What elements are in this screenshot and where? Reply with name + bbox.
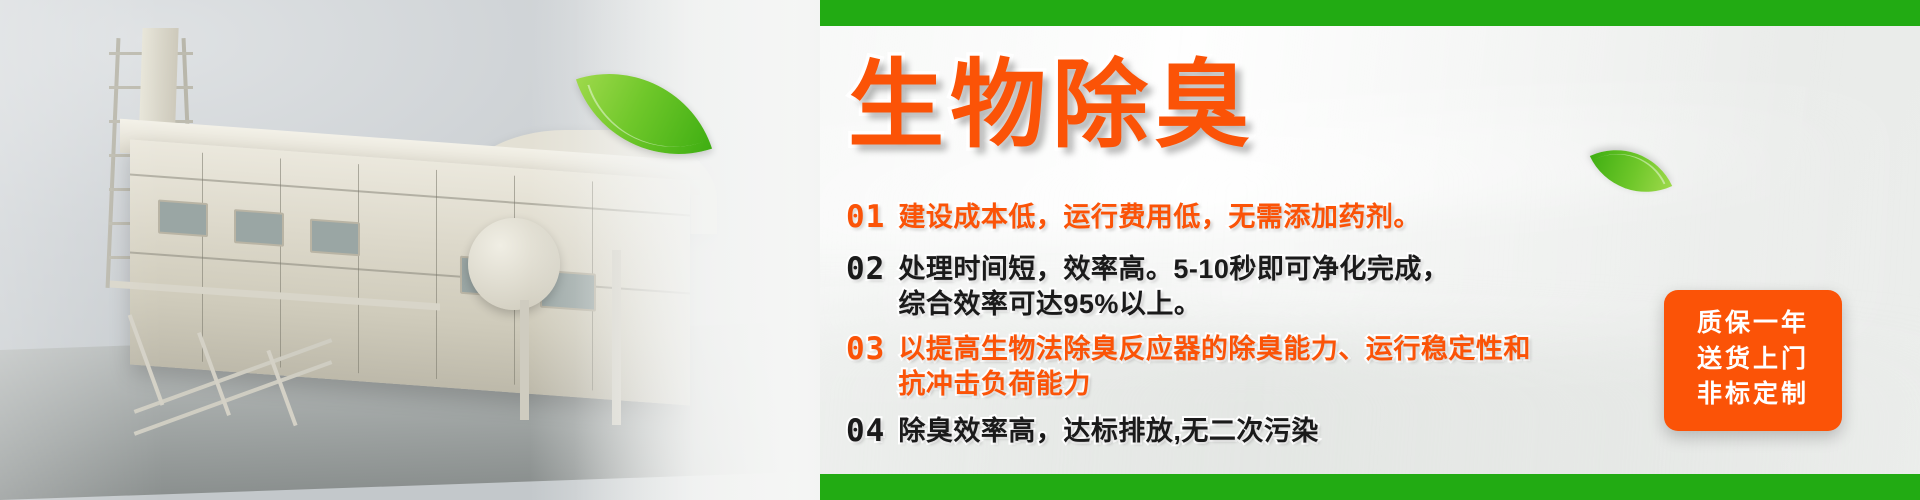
plant-photo: [0, 0, 820, 500]
feature-text: 以提高生物法除臭反应器的除臭能力、运行稳定性和 抗冲击负荷能力: [898, 332, 1531, 402]
feature-list: 01 建设成本低，运行费用低，无需添加药剂。 02 处理时间短，效率高。5-10…: [846, 200, 1636, 464]
feature-item-03: 03 以提高生物法除臭反应器的除臭能力、运行稳定性和 抗冲击负荷能力: [846, 332, 1636, 402]
photo-vignette: [0, 0, 820, 500]
banner-title: 生物除臭: [848, 58, 1256, 154]
feature-text: 处理时间短，效率高。5-10秒即可净化完成， 综合效率可达95%以上。: [898, 252, 1449, 322]
badge-line-custom: 非标定制: [1678, 377, 1828, 413]
text-column: 生物除臭 01 建设成本低，运行费用低，无需添加药剂。 02 处理时间短，效率高…: [840, 0, 1640, 500]
badge-line-delivery: 送货上门: [1678, 342, 1828, 378]
feature-number: 03: [846, 332, 885, 368]
feature-text: 除臭效率高，达标排放,无二次污染: [898, 414, 1319, 449]
feature-number: 04: [846, 414, 885, 450]
feature-number: 01: [846, 200, 885, 236]
feature-item-01: 01 建设成本低，运行费用低，无需添加药剂。: [846, 200, 1636, 236]
guarantee-badge: 质保一年 送货上门 非标定制: [1664, 290, 1842, 431]
feature-item-04: 04 除臭效率高，达标排放,无二次污染: [846, 414, 1636, 450]
promo-banner: 生物除臭 01 建设成本低，运行费用低，无需添加药剂。 02 处理时间短，效率高…: [0, 0, 1920, 500]
badge-line-warranty: 质保一年: [1678, 306, 1828, 342]
feature-text: 建设成本低，运行费用低，无需添加药剂。: [898, 200, 1421, 235]
feature-number: 02: [846, 252, 885, 288]
feature-item-02: 02 处理时间短，效率高。5-10秒即可净化完成， 综合效率可达95%以上。: [846, 252, 1636, 322]
